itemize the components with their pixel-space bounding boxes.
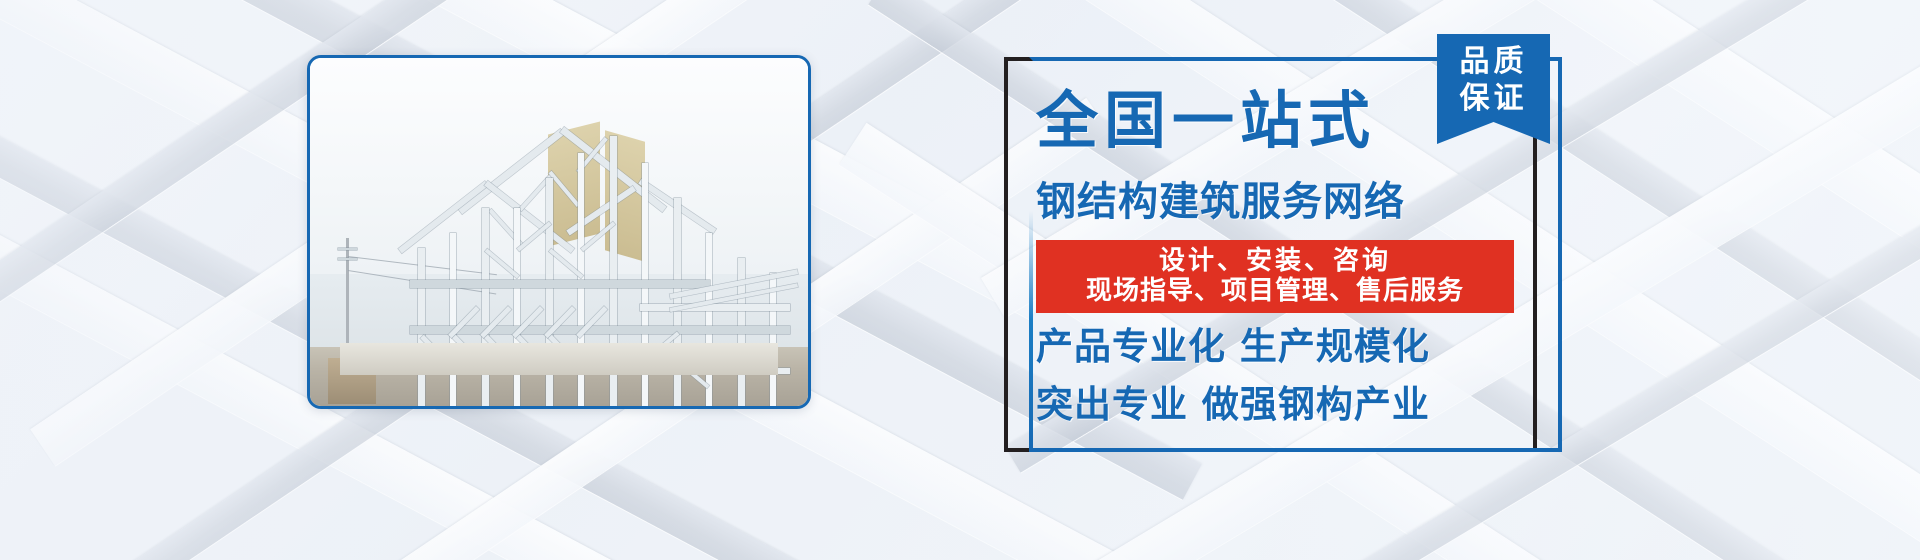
promo-banner: 全国一站式 钢结构建筑服务网络 设计、安装、咨询 现场指导、项目管理、售后服务 … bbox=[0, 0, 1920, 560]
services-line-1: 设计、安装、咨询 bbox=[1159, 247, 1391, 277]
badge-line-2: 保证 bbox=[1460, 81, 1528, 118]
stud bbox=[770, 273, 776, 406]
slogan-line-2: 突出专业 做强钢构产业 bbox=[1036, 386, 1521, 423]
stud bbox=[482, 208, 489, 406]
pole-arm bbox=[338, 258, 357, 260]
floor-beam bbox=[410, 326, 790, 334]
slogan-line-1: 产品专业化 生产规模化 bbox=[1036, 328, 1521, 365]
stud bbox=[514, 208, 520, 406]
badge-line-1: 品质 bbox=[1460, 44, 1528, 81]
services-red-box: 设计、安装、咨询 现场指导、项目管理、售后服务 bbox=[1036, 240, 1514, 313]
construction-photo bbox=[307, 55, 811, 409]
floor-beam bbox=[640, 304, 790, 311]
pole-arm bbox=[338, 248, 357, 250]
subheadline: 钢结构建筑服务网络 bbox=[1036, 182, 1516, 222]
concrete-slab bbox=[340, 343, 778, 374]
stud bbox=[706, 233, 712, 406]
photo-canvas bbox=[310, 58, 808, 406]
services-line-2: 现场指导、项目管理、售后服务 bbox=[1086, 277, 1464, 307]
floor-beam bbox=[410, 280, 710, 288]
background-steel-texture bbox=[0, 0, 1920, 560]
headline: 全国一站式 bbox=[1036, 90, 1506, 152]
stud bbox=[674, 198, 681, 406]
stud bbox=[450, 233, 456, 406]
